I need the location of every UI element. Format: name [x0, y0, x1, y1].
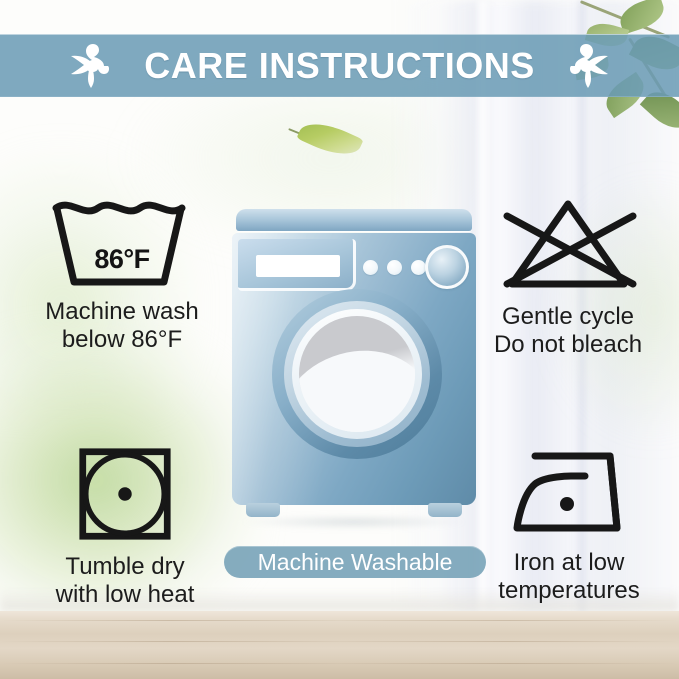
care-symbol-caption: Iron at low temperatures: [498, 549, 639, 606]
background-wood-surface: [0, 611, 679, 679]
care-symbol-caption: Machine wash below 86°F: [45, 298, 198, 355]
care-symbol-do-not-bleach: Gentle cycle Do not bleach: [468, 196, 668, 360]
detergent-drawer-slot: [256, 255, 340, 277]
machine-foot: [428, 503, 462, 517]
detergent-drawer: [238, 239, 356, 291]
program-dial: [425, 245, 469, 289]
machine-top-lid: [236, 209, 472, 231]
machine-washable-label: Machine Washable: [258, 551, 453, 574]
iron-low-icon: [505, 446, 633, 543]
washing-machine-illustration: [232, 209, 476, 529]
control-button: [411, 260, 426, 275]
fleur-de-lis-icon: [60, 44, 122, 88]
control-button: [363, 260, 378, 275]
care-symbol-tumble-dry: Tumble dry with low heat: [30, 446, 220, 610]
crossed-triangle-icon: [493, 196, 643, 297]
care-symbol-caption: Gentle cycle Do not bleach: [494, 303, 642, 360]
wash-temperature-label: 86°F: [48, 244, 196, 275]
machine-washable-badge: Machine Washable: [224, 546, 486, 578]
care-symbol-iron-low: Iron at low temperatures: [470, 446, 668, 606]
header-banner: CARE INSTRUCTIONS: [0, 34, 679, 97]
tumble-dry-low-icon: [77, 446, 173, 547]
page-title: CARE INSTRUCTIONS: [144, 48, 535, 84]
control-button: [387, 260, 402, 275]
care-symbol-machine-wash: 86°F Machine wash below 86°F: [24, 196, 220, 355]
care-symbol-caption: Tumble dry with low heat: [56, 553, 195, 610]
machine-foot: [246, 503, 280, 517]
fleur-de-lis-icon: [557, 44, 619, 88]
machine-door-glass: [299, 316, 415, 432]
care-instructions-infographic: CARE INSTRUCTIONS 86°F Machine: [0, 0, 679, 679]
machine-ground-shadow: [242, 515, 466, 529]
machine-door-glass-reflection: [299, 334, 415, 432]
